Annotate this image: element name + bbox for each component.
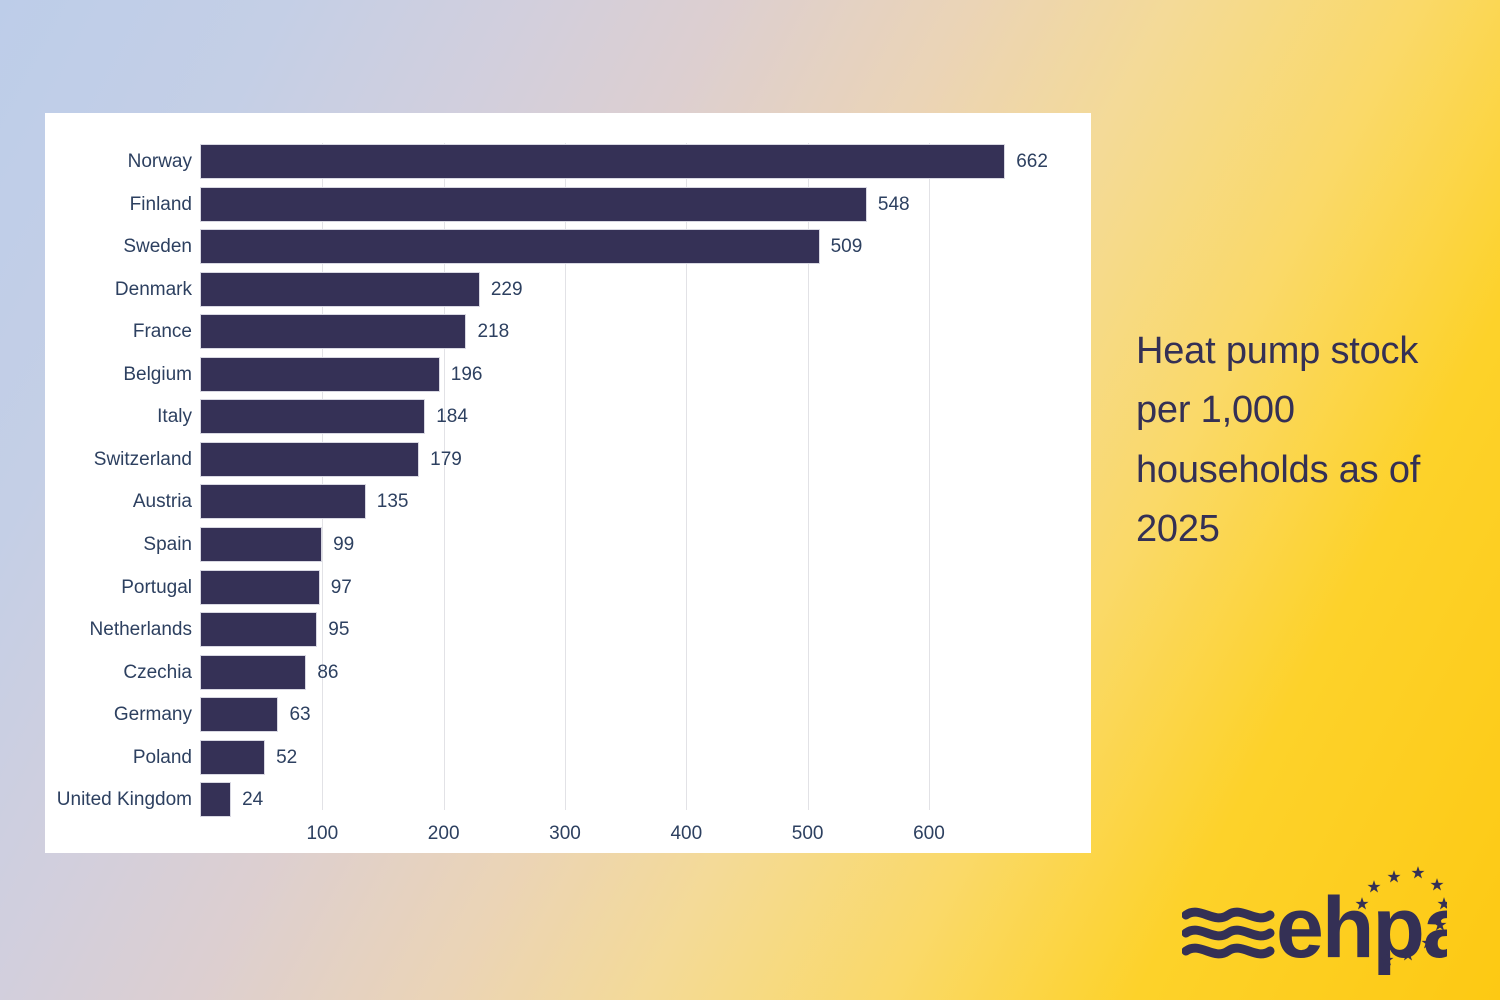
bar-row: Netherlands95 <box>45 613 1091 646</box>
bar-row: Spain99 <box>45 528 1091 561</box>
bar-row: Austria135 <box>45 485 1091 518</box>
bar-value-label: 184 <box>436 400 468 433</box>
bar-value-label: 95 <box>328 613 349 646</box>
bar[interactable] <box>201 145 1004 178</box>
bar[interactable] <box>201 358 439 391</box>
category-label: Italy <box>45 400 192 433</box>
bar[interactable] <box>201 741 264 774</box>
bar-row: Germany63 <box>45 698 1091 731</box>
bar-value-label: 63 <box>289 698 310 731</box>
category-label: Spain <box>45 528 192 561</box>
poster-canvas: 100200300400500600 Norway662Finland548Sw… <box>0 0 1500 1000</box>
category-label: Finland <box>45 188 192 221</box>
bar-row: Italy184 <box>45 400 1091 433</box>
category-label: Norway <box>45 145 192 178</box>
x-tick-label: 500 <box>792 823 824 845</box>
bar[interactable] <box>201 613 316 646</box>
bar[interactable] <box>201 528 321 561</box>
category-label: Portugal <box>45 571 192 604</box>
x-tick-label: 200 <box>428 823 460 845</box>
waves-icon <box>1186 912 1270 954</box>
category-label: Germany <box>45 698 192 731</box>
bar-value-label: 52 <box>276 741 297 774</box>
bar-row: Denmark229 <box>45 273 1091 306</box>
x-tick-label: 600 <box>913 823 945 845</box>
category-label: United Kingdom <box>45 783 192 816</box>
bar-row: Switzerland179 <box>45 443 1091 476</box>
bar-chart-plot: 100200300400500600 Norway662Finland548Sw… <box>45 113 1091 853</box>
bar[interactable] <box>201 783 230 816</box>
bar-value-label: 218 <box>477 315 509 348</box>
bar-value-label: 196 <box>451 358 483 391</box>
bar-row: Norway662 <box>45 145 1091 178</box>
bar[interactable] <box>201 188 866 221</box>
bar-value-label: 135 <box>377 485 409 518</box>
bar-row: France218 <box>45 315 1091 348</box>
bar-value-label: 86 <box>317 656 338 689</box>
category-label: Sweden <box>45 230 192 263</box>
bar[interactable] <box>201 485 365 518</box>
bar-value-label: 509 <box>831 230 863 263</box>
category-label: Belgium <box>45 358 192 391</box>
bar-value-label: 179 <box>430 443 462 476</box>
category-label: Czechia <box>45 656 192 689</box>
bar-value-label: 229 <box>491 273 523 306</box>
x-tick-label: 300 <box>549 823 581 845</box>
bar-value-label: 548 <box>878 188 910 221</box>
bar[interactable] <box>201 273 479 306</box>
bar[interactable] <box>201 230 819 263</box>
bar-value-label: 97 <box>331 571 352 604</box>
bar[interactable] <box>201 315 465 348</box>
category-label: France <box>45 315 192 348</box>
bar-row: Finland548 <box>45 188 1091 221</box>
bar-row: Sweden509 <box>45 230 1091 263</box>
bar[interactable] <box>201 656 305 689</box>
category-label: Denmark <box>45 273 192 306</box>
bar[interactable] <box>201 698 277 731</box>
bar-row: Czechia86 <box>45 656 1091 689</box>
category-label: Austria <box>45 485 192 518</box>
ehpa-logo[interactable]: ehpa <box>1182 863 1447 975</box>
category-label: Switzerland <box>45 443 192 476</box>
bar-value-label: 99 <box>333 528 354 561</box>
logo-wordmark: ehpa <box>1276 880 1447 975</box>
bar-row: United Kingdom24 <box>45 783 1091 816</box>
bar-row: Belgium196 <box>45 358 1091 391</box>
category-label: Netherlands <box>45 613 192 646</box>
bar[interactable] <box>201 443 418 476</box>
bar-value-label: 24 <box>242 783 263 816</box>
category-label: Poland <box>45 741 192 774</box>
bar-row: Poland52 <box>45 741 1091 774</box>
bar[interactable] <box>201 571 319 604</box>
bar-row: Portugal97 <box>45 571 1091 604</box>
x-tick-label: 400 <box>670 823 702 845</box>
bar-value-label: 662 <box>1016 145 1048 178</box>
page-title: Heat pump stock per 1,000 households as … <box>1136 322 1466 559</box>
chart-panel: 100200300400500600 Norway662Finland548Sw… <box>45 113 1091 853</box>
bar[interactable] <box>201 400 424 433</box>
x-tick-label: 100 <box>306 823 338 845</box>
